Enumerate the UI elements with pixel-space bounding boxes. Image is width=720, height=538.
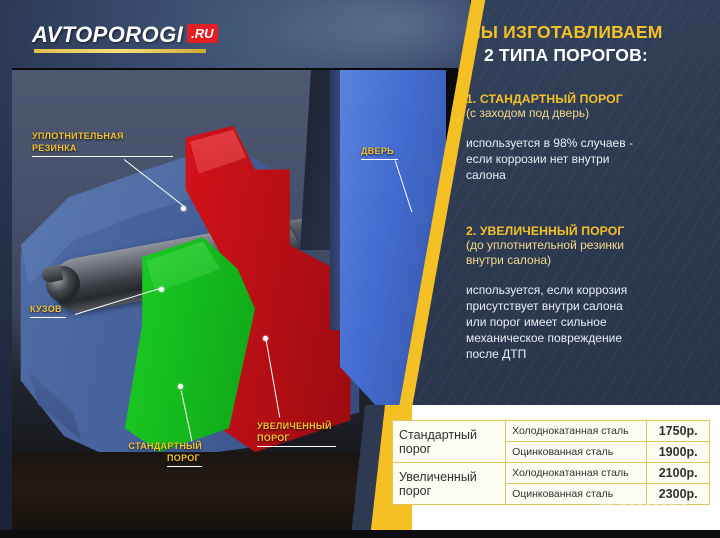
section-enlarged-body-line5: после ДТП [466, 346, 712, 362]
price-value: 2300р. [647, 484, 710, 505]
price-name-standard-line1: Стандартный [399, 428, 477, 442]
price-name-standard-line2: порог [399, 442, 431, 456]
section-enlarged: 2. УВЕЛИЧЕННЫЙ ПОРОГ (до уплотнительной … [466, 224, 712, 362]
section-enlarged-subtitle-line2: внутри салона) [466, 253, 712, 268]
section-standard-body-line2: если коррозии нет внутри [466, 151, 712, 167]
leader-dot-enlarged-sill [263, 336, 268, 341]
section-standard-subtitle: (с заходом под дверь) [466, 106, 712, 121]
leader-dot-body [159, 287, 164, 292]
label-body-text: КУЗОВ [30, 303, 66, 318]
label-rubber-seal-line2: РЕЗИНКА [32, 142, 173, 157]
price-material: Оцинкованная сталь [506, 484, 647, 505]
price-name-enlarged-line2: порог [399, 484, 431, 498]
logo-wordmark: AVTOPOROGI [32, 22, 183, 47]
price-material: Холоднокатанная сталь [506, 463, 647, 484]
section-standard-body: используется в 98% случаев - если корроз… [466, 135, 712, 183]
section-enlarged-body: используется, если коррозия присутствует… [466, 282, 712, 362]
heading-line2: 2 ТИПА ПОРОГОВ: [466, 45, 712, 66]
section-enlarged-body-line1: используется, если коррозия [466, 282, 712, 298]
advertisement-image: AVTOPOROGI.RU УПЛОТНИТЕЛЬНАЯ РЕЗИНКА [0, 0, 720, 538]
price-row-name-enlarged: Увеличенный порог [393, 463, 506, 505]
price-value: 1900р. [647, 442, 710, 463]
label-door-text: ДВЕРЬ [361, 145, 398, 160]
section-enlarged-subtitle: (до уплотнительной резинки внутри салона… [466, 238, 712, 268]
price-material: Холоднокатанная сталь [506, 421, 647, 442]
price-value: 1750р. [647, 421, 710, 442]
label-enlarged-sill-line2: ПОРОГ [257, 432, 336, 447]
section-standard-body-line1: используется в 98% случаев - [466, 135, 712, 151]
label-rubber-seal-line1: УПЛОТНИТЕЛЬНАЯ [32, 131, 124, 141]
price-row-name-standard: Стандартный порог [393, 421, 506, 463]
price-table: Стандартный порог Холоднокатанная сталь … [392, 420, 710, 505]
table-row: Увеличенный порог Холоднокатанная сталь … [393, 463, 710, 484]
section-enlarged-title: 2. УВЕЛИЧЕННЫЙ ПОРОГ [466, 224, 712, 238]
label-enlarged-sill-line1: УВЕЛИЧЕННЫЙ [257, 421, 332, 431]
bottom-bar [0, 530, 720, 538]
label-standard-sill-line2: ПОРОГ [167, 452, 202, 467]
label-enlarged-sill: УВЕЛИЧЕННЫЙ ПОРОГ [257, 420, 377, 447]
section-standard-title: 1. СТАНДАРТНЫЙ ПОРОГ [466, 92, 712, 106]
section-standard: 1. СТАНДАРТНЫЙ ПОРОГ (с заходом под двер… [466, 92, 712, 183]
section-enlarged-subtitle-line1: (до уплотнительной резинки [466, 238, 712, 253]
label-standard-sill-line1: СТАНДАРТНЫЙ [128, 441, 202, 451]
logo-underline-bar [34, 49, 206, 53]
section-enlarged-body-line2: присутствует внутри салона [466, 298, 712, 314]
leader-dot-rubber-seal [181, 206, 186, 211]
heading-line1: МЫ ИЗГОТАВЛИВАЕМ [466, 22, 712, 43]
label-body: КУЗОВ [30, 303, 66, 318]
price-material: Оцинкованная сталь [506, 442, 647, 463]
price-value: 2100р. [647, 463, 710, 484]
label-standard-sill: СТАНДАРТНЫЙ ПОРОГ [92, 440, 202, 467]
leader-dot-standard-sill [178, 384, 183, 389]
price-name-enlarged-line1: Увеличенный [399, 470, 477, 484]
panel-heading: МЫ ИЗГОТАВЛИВАЕМ 2 ТИПА ПОРОГОВ: [466, 22, 712, 66]
label-door: ДВЕРЬ [361, 145, 398, 160]
brand-logo: AVTOPOROGI.RU [32, 22, 218, 52]
section-enlarged-body-line4: механическое повреждение [466, 330, 712, 346]
section-standard-body-line3: салона [466, 167, 712, 183]
section-enlarged-body-line3: или порог имеет сильное [466, 314, 712, 330]
logo-tld-badge: .RU [187, 24, 218, 43]
label-rubber-seal: УПЛОТНИТЕЛЬНАЯ РЕЗИНКА [32, 130, 173, 157]
table-row: Стандартный порог Холоднокатанная сталь … [393, 421, 710, 442]
